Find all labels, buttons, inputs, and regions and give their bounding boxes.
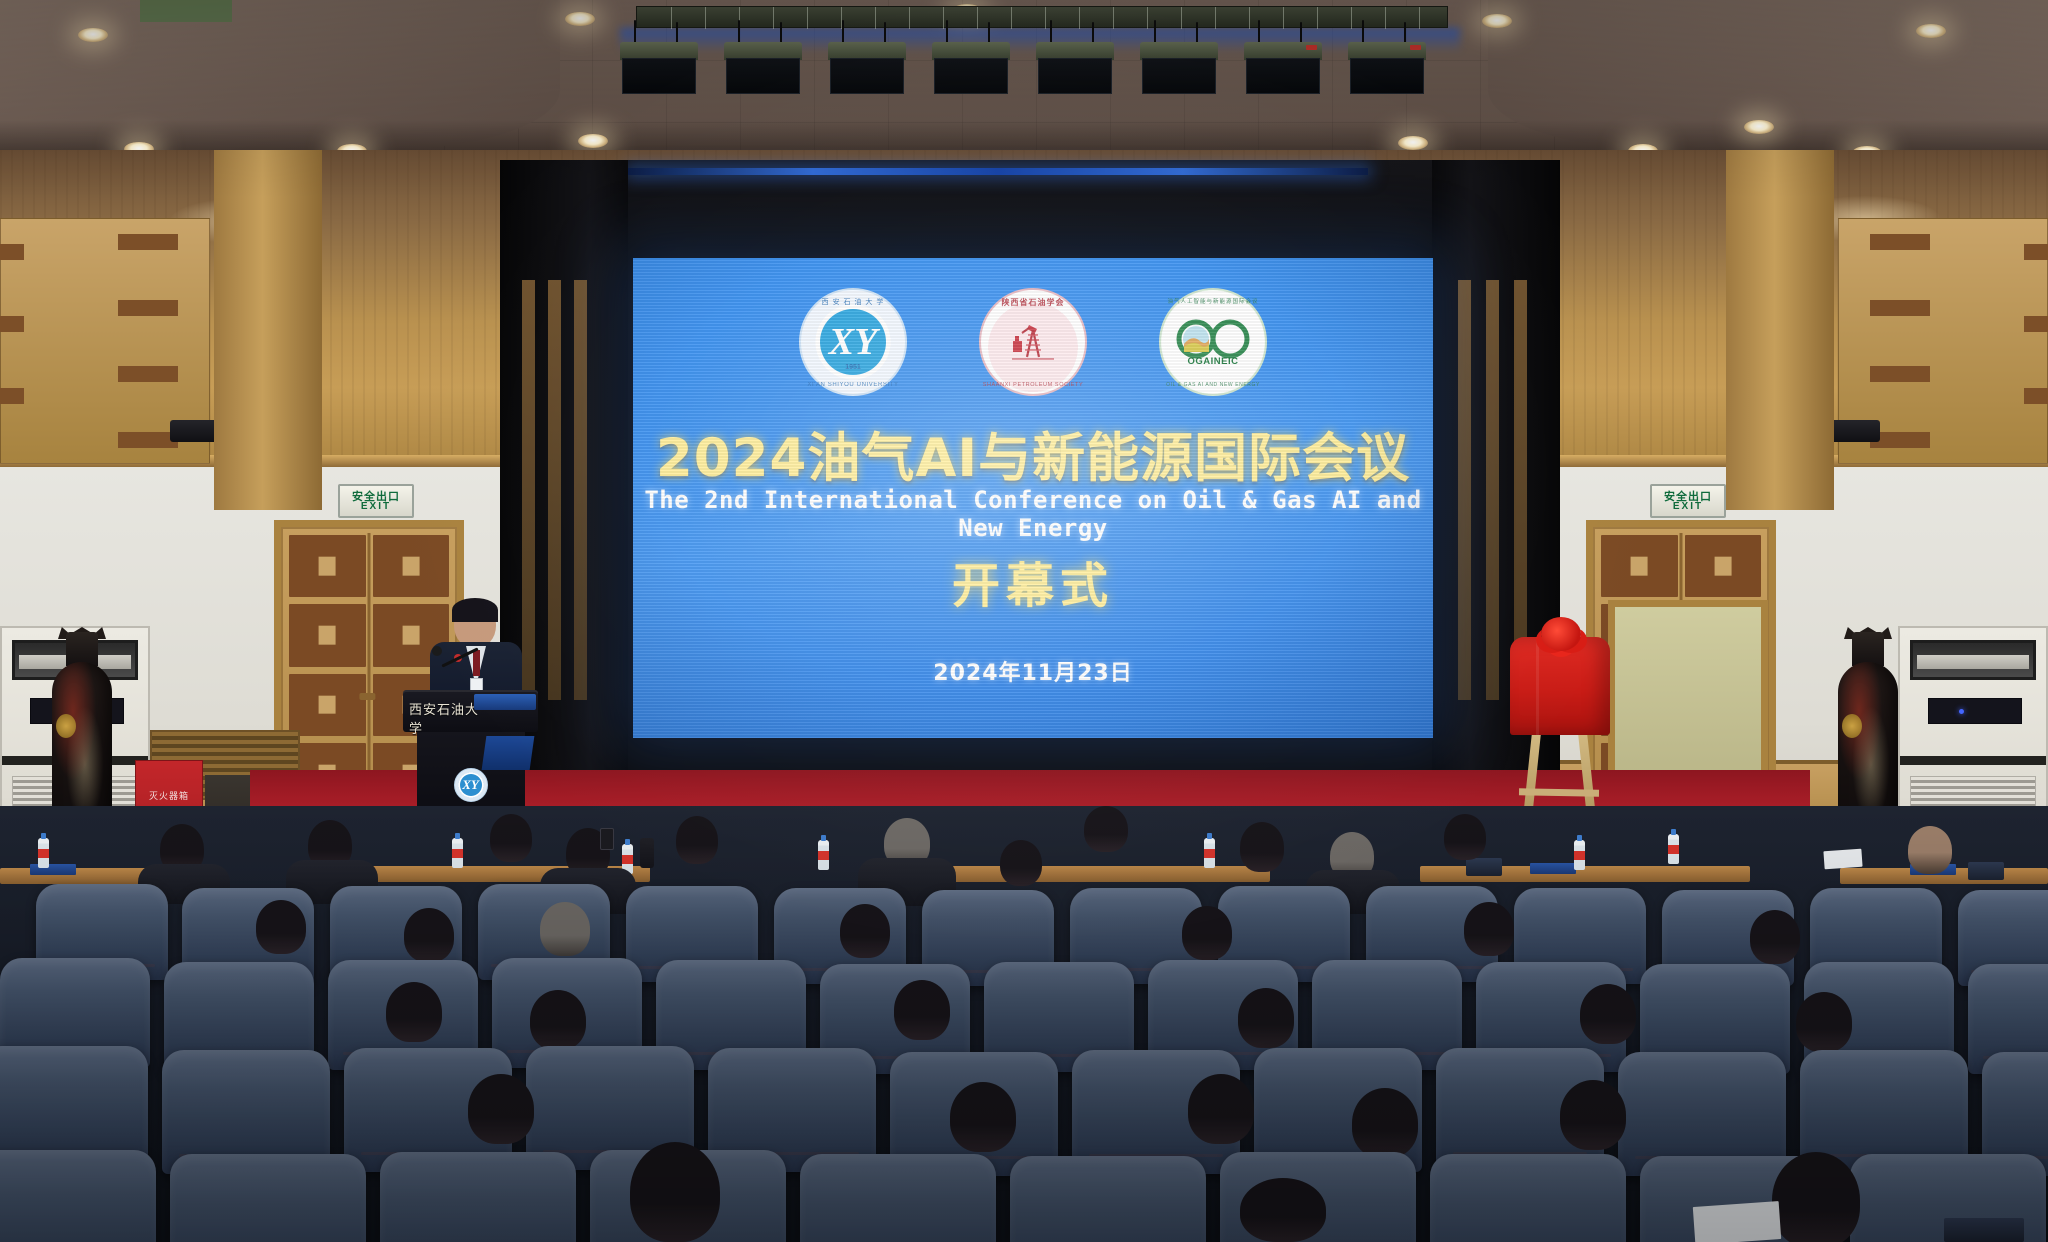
podium-university-emblem: XY — [454, 768, 488, 802]
shaanxi-petroleum-society-logo: 陕西省石油学会 SHAANXI PETROLEUM SOCIETY — [979, 288, 1087, 396]
wall-panel-stripe — [118, 432, 178, 448]
logo-arc-bottom-text: XI'AN SHIYOU UNIVERSITY — [801, 382, 905, 388]
exit-sign-chinese: 安全出口 — [352, 491, 400, 502]
fire-box-label: 灭火器箱 — [136, 789, 202, 802]
wall-panel-stripe — [118, 234, 178, 250]
stage-light-fixture — [1140, 42, 1218, 94]
attendee-head — [1000, 840, 1042, 886]
fixture-cable — [634, 20, 636, 44]
attendee-head — [840, 904, 890, 958]
led-presentation-screen: 西 安 石 油 大 学 XY 1951 XI'AN SHIYOU UNIVERS… — [633, 258, 1433, 738]
logo-arc-top-text: 西 安 石 油 大 学 — [801, 297, 905, 307]
logo-row: 西 安 石 油 大 学 XY 1951 XI'AN SHIYOU UNIVERS… — [633, 288, 1433, 396]
fixture-body — [934, 58, 1008, 94]
logo-wordmark: OGAINEIC — [1161, 356, 1265, 367]
podium-top-surface: 西安石油大学 — [403, 690, 538, 732]
ceiling-downlight — [1398, 136, 1428, 150]
exit-sign-left: 安全出口 EXIT — [338, 484, 414, 518]
laptop[interactable] — [1466, 858, 1502, 876]
water-bottle — [452, 838, 463, 868]
bottle-label — [818, 851, 829, 860]
exit-sign-english: EXIT — [1673, 502, 1703, 512]
attendee-head — [1560, 1080, 1626, 1150]
wall-panel-stripe — [2024, 316, 2048, 332]
audience-seat[interactable] — [170, 1154, 366, 1242]
truss-segment — [875, 7, 876, 29]
wood-slat — [574, 280, 587, 700]
fixture-cable — [884, 22, 886, 44]
bottle-label — [1668, 845, 1679, 854]
paper-handout — [1693, 1201, 1781, 1242]
wood-slat — [1458, 280, 1471, 700]
fixture-cable — [1362, 20, 1364, 44]
ceiling-downlight — [578, 134, 608, 148]
fixture-cable — [1300, 22, 1302, 44]
stage-light-fixture — [620, 42, 698, 94]
decorative-vase-left — [52, 632, 112, 827]
attendee-head — [1352, 1088, 1418, 1158]
attendee-head — [1908, 826, 1952, 874]
vase-gold-detail — [1842, 714, 1862, 738]
logo-arc-bottom-text: OIL & GAS AI AND NEW ENERGY — [1161, 382, 1265, 388]
attendee-head — [530, 990, 586, 1050]
stage-light-fixture — [724, 42, 802, 94]
exit-sign-english: EXIT — [361, 502, 391, 512]
attendee-head-foreground — [1772, 1152, 1860, 1242]
ceiling-green-tile — [140, 0, 232, 22]
conference-title-english: The 2nd International Conference on Oil … — [633, 486, 1433, 542]
wood-slat — [1486, 280, 1499, 700]
wall-panel-stripe — [0, 388, 24, 404]
attendee-head — [490, 814, 532, 862]
fixture-cable — [738, 20, 740, 44]
vase-neck — [66, 632, 98, 666]
podium-emblem-monogram: XY — [460, 774, 482, 796]
vase-body — [52, 662, 112, 827]
xian-shiyou-university-logo: 西 安 石 油 大 学 XY 1951 XI'AN SHIYOU UNIVERS… — [799, 288, 907, 396]
attendee-head — [894, 980, 950, 1040]
fixture-cable — [988, 22, 990, 44]
exit-sign-chinese: 安全出口 — [1664, 491, 1712, 502]
fixture-cable — [842, 20, 844, 44]
ceiling-downlight — [1744, 120, 1774, 134]
truss-segment — [1045, 7, 1046, 29]
easel-crossbar — [1519, 788, 1599, 796]
door-panel — [289, 674, 366, 736]
paper-handout — [1823, 849, 1862, 870]
logo-founding-year: 1951 — [801, 364, 905, 371]
door-panel — [289, 535, 366, 597]
vase-gold-detail — [56, 714, 76, 738]
exit-sign-right: 安全出口 EXIT — [1650, 484, 1726, 518]
stage-light-fixture — [932, 42, 1010, 94]
attendee-head — [1464, 902, 1514, 956]
attendee-head — [1188, 1074, 1254, 1144]
truss-segment — [1011, 7, 1012, 29]
fixture-cable — [1154, 20, 1156, 44]
audience-seat[interactable] — [800, 1154, 996, 1242]
lighting-truss — [636, 6, 1448, 28]
water-bottle — [1668, 834, 1679, 864]
stage-light-fixture — [828, 42, 906, 94]
attendee-head — [1182, 906, 1232, 960]
attendee-head-foreground — [1240, 1178, 1326, 1242]
door-panel — [373, 535, 450, 597]
truss-segment — [1215, 7, 1216, 29]
opening-ceremony-label: 开幕式 — [633, 546, 1433, 616]
truss-segment — [977, 7, 978, 29]
truss-segment — [671, 7, 672, 29]
ceiling-downlight — [1916, 24, 1946, 38]
smartphone[interactable] — [600, 828, 614, 850]
wood-slat — [522, 280, 535, 700]
bottle-label — [1204, 849, 1215, 858]
fixture-body — [1142, 58, 1216, 94]
infinity-icon — [1174, 319, 1252, 359]
fixture-body — [622, 58, 696, 94]
truss-segment — [1419, 7, 1420, 29]
logo-arc-bottom-text: SHAANXI PETROLEUM SOCIETY — [981, 382, 1085, 388]
stage-light-fixture — [1036, 42, 1114, 94]
attendee-head — [1750, 910, 1800, 964]
ceiling-downlight — [78, 28, 108, 42]
truss-segment — [1249, 7, 1250, 29]
fixture-body — [1038, 58, 1112, 94]
audience-seat[interactable] — [1010, 1156, 1206, 1242]
truss-segment — [705, 7, 706, 29]
attendee-head — [676, 816, 718, 864]
audience-seating-area — [0, 806, 2048, 1242]
truss-segment — [1351, 7, 1352, 29]
fixture-cable — [1050, 20, 1052, 44]
truss-segment — [1113, 7, 1114, 29]
attendee-head-foreground — [630, 1142, 720, 1242]
wall-panel-stripe — [118, 300, 178, 316]
water-bottle — [1204, 838, 1215, 868]
truss-segment — [807, 7, 808, 29]
ac-display-panel — [1928, 698, 2022, 724]
attendee-head — [1084, 806, 1128, 852]
stage-light-fixture — [1348, 42, 1426, 94]
truss-segment — [1385, 7, 1386, 29]
laptop[interactable] — [1944, 1218, 2024, 1242]
truss-segment — [773, 7, 774, 29]
bottle-label — [1574, 851, 1585, 860]
vase-body — [1838, 662, 1898, 827]
logo-arc-top-text: 陕西省石油学会 — [981, 297, 1085, 308]
fixture-cable — [1258, 20, 1260, 44]
attendee-head — [386, 982, 442, 1042]
truss-segment — [909, 7, 910, 29]
door-center-seam — [368, 533, 371, 807]
wall-panel-stripe — [2024, 388, 2048, 404]
wall-panel-stripe — [1870, 234, 1930, 250]
speaker-hair — [452, 598, 498, 622]
decorative-vase-right — [1838, 632, 1898, 827]
door-panel — [1601, 535, 1678, 597]
proscenium-led-strip — [628, 168, 1368, 175]
fixture-body — [830, 58, 904, 94]
podium-blue-side-panel — [482, 736, 535, 770]
desk-nameplate — [30, 864, 76, 875]
vase-neck — [1852, 632, 1884, 666]
audience-seat[interactable] — [1430, 1154, 1626, 1242]
audience-seat[interactable] — [0, 1150, 156, 1242]
ac-band — [1900, 756, 2046, 765]
ceiling-downlight — [565, 12, 595, 26]
attendee-head — [950, 1082, 1016, 1152]
stage-light-fixture — [1244, 42, 1322, 94]
attendee-head — [404, 908, 454, 962]
wood-slat — [548, 280, 561, 700]
speaker-tie — [473, 650, 480, 676]
wall-pilaster-left — [214, 150, 322, 510]
water-bottle — [818, 840, 829, 870]
ogaineic-logo: 油气人工智能与新能源国际会议 OGAINEIC OIL & GAS AI AND… — [1159, 288, 1267, 396]
wall-panel-stripe — [0, 244, 24, 260]
wall-panel-stripe — [118, 366, 178, 382]
audience-seat[interactable] — [380, 1152, 576, 1242]
water-bottle — [38, 838, 49, 868]
fixture-cable — [1092, 22, 1094, 44]
ac-vent — [1910, 640, 2036, 680]
truss-segment — [1181, 7, 1182, 29]
wall-panel-stripe — [2024, 244, 2048, 260]
door-panel — [1685, 535, 1762, 597]
laptop[interactable] — [1968, 862, 2004, 880]
truss-segment — [1079, 7, 1080, 29]
bottle-label — [622, 855, 633, 864]
fixture-body — [1350, 58, 1424, 94]
conference-hall-photo: 西 安 石 油 大 学 XY 1951 XI'AN SHIYOU UNIVERS… — [0, 0, 2048, 1242]
attendee-head — [468, 1074, 534, 1144]
pumpjack-icon — [1004, 319, 1062, 365]
truss-segment — [943, 7, 944, 29]
logo-arc-top-text: 油气人工智能与新能源国际会议 — [1161, 297, 1265, 305]
conference-date: 2024年11月23日 — [633, 655, 1433, 687]
water-bottle — [1574, 840, 1585, 870]
thermos-cup — [640, 838, 654, 868]
bottle-label — [38, 849, 49, 858]
fixture-cable — [676, 22, 678, 44]
fixture-cable — [1196, 22, 1198, 44]
conference-title-chinese: 2024油气AI与新能源国际会议 — [633, 416, 1433, 492]
red-ribbon-flower — [1541, 617, 1581, 651]
fixture-indicator-light — [1306, 45, 1317, 50]
audience-desk — [930, 866, 1270, 882]
fixture-body — [1246, 58, 1320, 94]
fixture-cable — [946, 20, 948, 44]
attendee-head — [1444, 814, 1486, 860]
fixture-indicator-light — [1410, 45, 1421, 50]
fixture-cable — [1404, 22, 1406, 44]
truss-segment — [1317, 7, 1318, 29]
wall-pilaster-right — [1726, 150, 1834, 510]
attendee-head — [1240, 822, 1284, 872]
attendee-head — [1580, 984, 1636, 1044]
door-handle[interactable] — [359, 693, 375, 700]
podium-blue-accent — [474, 694, 536, 710]
attendee-head — [256, 900, 306, 954]
wall-panel-stripe — [0, 316, 24, 332]
wall-panel-stripe — [1870, 300, 1930, 316]
truss-segment — [1283, 7, 1284, 29]
fixture-body — [726, 58, 800, 94]
truss-segment — [1147, 7, 1148, 29]
attendee-head — [1238, 988, 1294, 1048]
desk-nameplate — [1530, 863, 1576, 874]
bottle-label — [452, 849, 463, 858]
attendee-head — [540, 902, 590, 956]
attendee-head — [1796, 992, 1852, 1052]
door-panel — [289, 604, 366, 666]
microphone-icon — [432, 646, 442, 656]
wall-panel-stripe — [1870, 366, 1930, 382]
ceiling-downlight — [1482, 14, 1512, 28]
red-covering-cloth — [1510, 637, 1610, 735]
fixture-cable — [780, 22, 782, 44]
